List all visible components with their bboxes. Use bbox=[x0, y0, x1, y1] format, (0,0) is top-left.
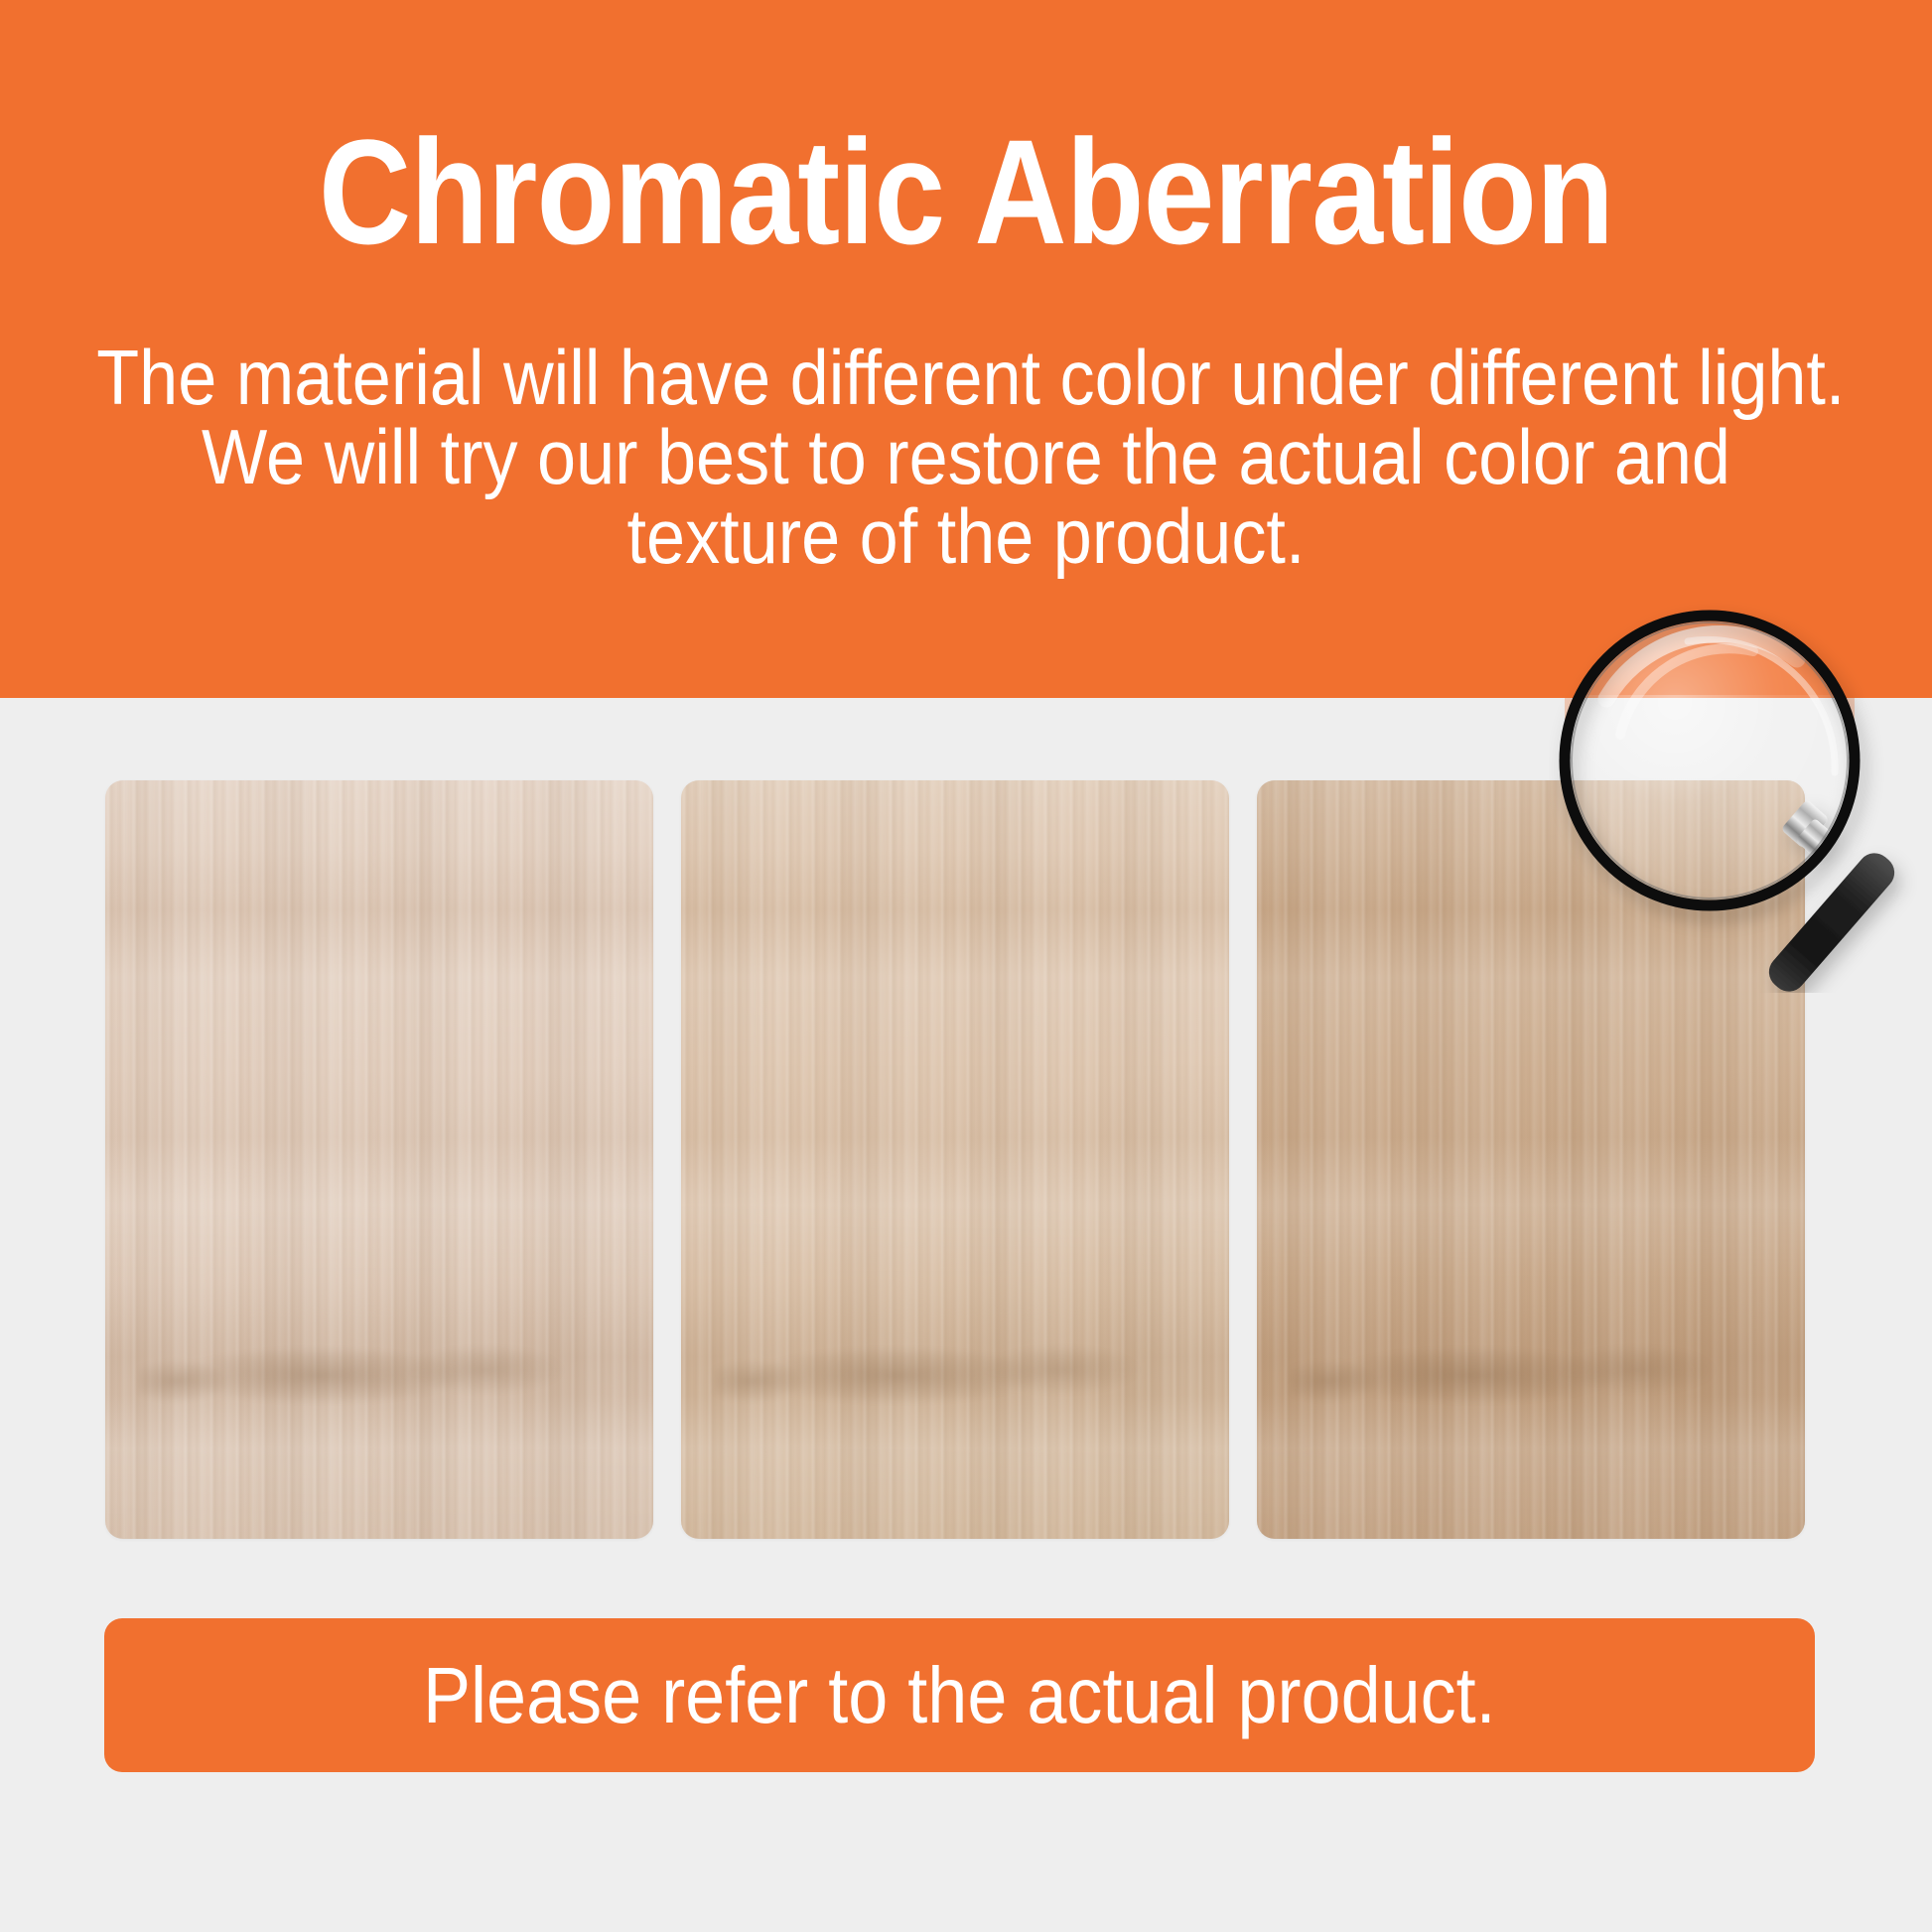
subtitle-line-3: texture of the product. bbox=[96, 496, 1835, 576]
refer-to-actual-product-button[interactable]: Please refer to the actual product. bbox=[104, 1618, 1815, 1772]
wood-sample-medium[interactable] bbox=[681, 780, 1229, 1539]
header-banner: Chromatic Aberration The material will h… bbox=[0, 0, 1932, 698]
subtitle-line-1: The material will have different color u… bbox=[96, 338, 1835, 417]
header-subtitle: The material will have different color u… bbox=[96, 338, 1835, 576]
footer-button-label: Please refer to the actual product. bbox=[423, 1656, 1496, 1735]
sample-swatch-row bbox=[105, 780, 1805, 1539]
wood-knot-detail bbox=[138, 1341, 621, 1410]
page-title: Chromatic Aberration bbox=[135, 117, 1797, 266]
wood-sample-dark[interactable] bbox=[1257, 780, 1805, 1539]
wood-knot-detail bbox=[1290, 1341, 1772, 1410]
wood-grain-lines bbox=[681, 780, 1229, 1539]
wood-sample-light[interactable] bbox=[105, 780, 653, 1539]
wood-grain-lines bbox=[105, 780, 653, 1539]
wood-knot-detail bbox=[714, 1341, 1196, 1410]
subtitle-line-2: We will try our best to restore the actu… bbox=[96, 417, 1835, 496]
wood-grain-lines bbox=[1257, 780, 1805, 1539]
